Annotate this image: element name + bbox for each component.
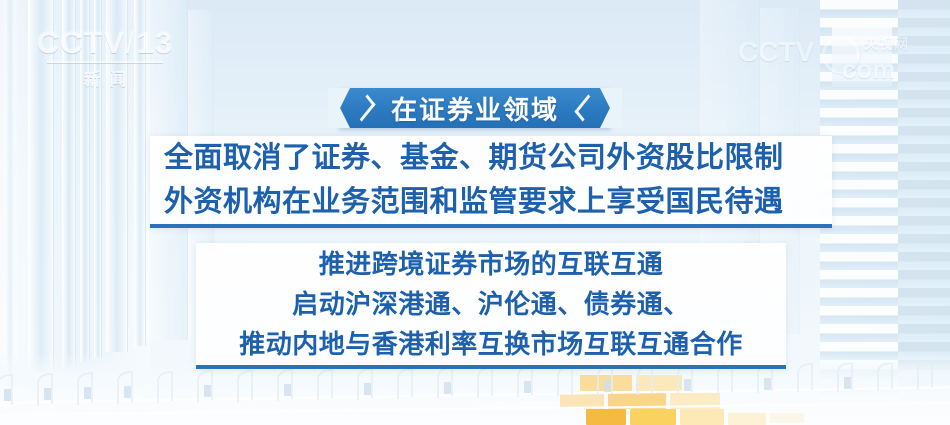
amber-tile-mosaic: [560, 365, 860, 425]
title-banner: 在证券业领域: [339, 88, 611, 128]
panel-b-line-1: 推进跨境证券市场的互联互通: [319, 244, 664, 284]
channel-bug-cctv-text: CCTV: [37, 25, 125, 60]
street-guardrail-fence: [0, 363, 950, 419]
title-banner-wrapper: 在证券业领域: [0, 88, 950, 128]
chevron-left-icon: [353, 94, 375, 121]
watermark-cn-name: 央视网: [864, 34, 909, 54]
banner-title-text: 在证券业领域: [391, 90, 559, 127]
channel-bug-slash: /: [125, 25, 137, 60]
text-panel-cross-border-connect: 推进跨境证券市场的互联互通 启动沪深港通、沪伦通、债券通、 推动内地与香港利率互…: [196, 243, 786, 369]
channel-bug-main: CCTV/13: [30, 26, 180, 60]
channel-bug-number: 13: [137, 25, 173, 60]
news-graphic-stage: CCTV/13 新闻 CCTV 央视网 com 在证券业领域 全面取消了证券、基…: [0, 0, 950, 425]
chevron-right-icon: [574, 94, 596, 121]
cctv-com-watermark: CCTV 央视网 com: [738, 34, 928, 84]
channel-bug-divider: [47, 61, 163, 63]
panel-a-line-2: 外资机构在业务范围和监管要求上享受国民待遇: [164, 180, 784, 224]
panel-b-line-3: 推动内地与香港利率互换市场互联互通合作: [239, 324, 743, 364]
channel-bug-subtitle: 新闻: [30, 65, 180, 90]
watermark-com-text: com: [842, 54, 895, 85]
cctv13-channel-bug: CCTV/13 新闻: [30, 26, 180, 88]
watermark-cctv-text: CCTV: [738, 36, 814, 68]
panel-b-line-2: 启动沪深港通、沪伦通、债券通、: [292, 284, 690, 324]
panel-a-line-1: 全面取消了证券、基金、期货公司外资股比限制: [164, 136, 784, 180]
text-panel-securities-ownership: 全面取消了证券、基金、期货公司外资股比限制 外资机构在业务范围和监管要求上享受国…: [150, 136, 832, 228]
